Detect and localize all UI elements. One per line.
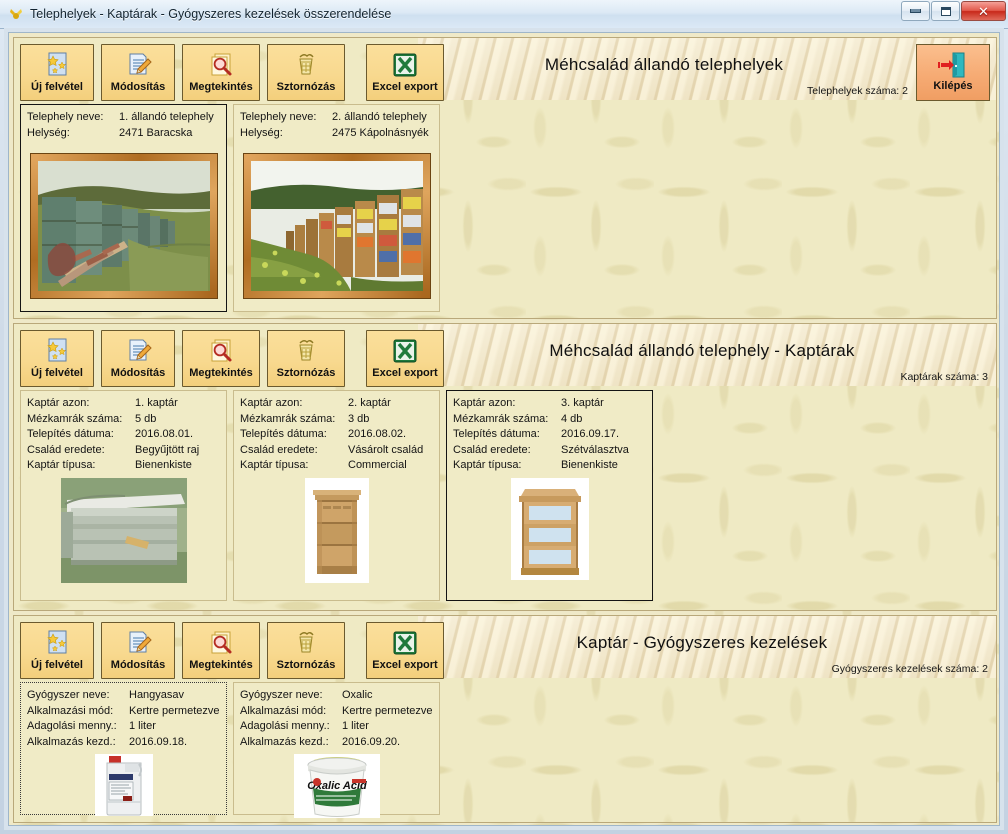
window-controls: ✕ [900, 1, 1006, 21]
field-key: Család eredete: [453, 443, 561, 459]
view-button-3[interactable]: Megtekintés [182, 622, 260, 679]
new-button-2[interactable]: Új felvétel [20, 330, 94, 387]
field-row: Alkalmazási mód:Kertre permetezve [240, 704, 433, 720]
apiary-colorful-hive-stacks-image [244, 154, 430, 298]
field-row: Mézkamrák száma:5 db [27, 412, 220, 428]
field-key: Alkalmazási mód: [27, 704, 129, 720]
field-row: Alkalmazás kezd.:2016.09.20. [240, 735, 433, 751]
card-fields: Gyógyszer neve:Oxalic Alkalmazási mód:Ke… [234, 683, 439, 752]
field-value: Bienenkiste [135, 458, 192, 474]
section1-title: Méhcsalád állandó telephelyek [418, 55, 910, 75]
field-key: Kaptár azon: [240, 396, 348, 412]
field-row: Helység: 2471 Baracska [27, 126, 220, 142]
section2-title: Méhcsalád állandó telephely - Kaptárak [418, 341, 986, 361]
field-key: Adagolási menny.: [240, 719, 342, 735]
field-value: 2475 Kápolnásnyék [332, 126, 429, 142]
field-value: 1. kaptár [135, 396, 178, 412]
field-key: Telepítés dátuma: [453, 427, 561, 443]
field-row: Kaptár azon:1. kaptár [27, 396, 220, 412]
apiary-green-hives-row-image [31, 154, 217, 298]
bee-icon [8, 6, 24, 22]
new-button-label: Új felvétel [31, 81, 83, 93]
wastebasket-icon [291, 49, 321, 81]
section3-cards: Gyógyszer neve:Hangyasav Alkalmazási mód… [20, 682, 440, 815]
field-row: Adagolási menny.:1 liter [27, 719, 220, 735]
wastebasket-icon [291, 627, 321, 659]
card-photo [234, 476, 439, 601]
list-item[interactable]: Gyógyszer neve:Oxalic Alkalmazási mód:Ke… [233, 682, 440, 815]
field-key: Mézkamrák száma: [453, 412, 561, 428]
field-row: Gyógyszer neve:Oxalic [240, 688, 433, 704]
new-button-label: Új felvétel [31, 367, 83, 379]
field-row: Kaptár típusa:Commercial [240, 458, 433, 474]
excel-icon [390, 335, 420, 367]
field-value: Oxalic [342, 688, 373, 704]
section3-header: Kaptár - Gyógyszeres kezelések Gyógyszer… [14, 616, 996, 678]
minimize-button[interactable] [901, 1, 930, 21]
card-fields: Kaptár azon:2. kaptár Mézkamrák száma:3 … [234, 391, 439, 476]
field-key: Mézkamrák száma: [240, 412, 348, 428]
field-value: Begyűjtött raj [135, 443, 199, 459]
exit-button[interactable]: Kilépés [916, 44, 990, 101]
client-area: Méhcsalád állandó telephelyek Telephelye… [4, 28, 1004, 830]
list-item[interactable]: Kaptár azon:1. kaptár Mézkamrák száma:5 … [20, 390, 227, 601]
section2-count: Kaptárak száma: 3 [900, 371, 988, 383]
field-row: Alkalmazás kezd.:2016.09.18. [27, 735, 220, 751]
section1-header: Méhcsalád állandó telephelyek Telephelye… [14, 38, 996, 100]
close-icon: ✕ [978, 5, 989, 18]
view-button-label: Megtekintés [189, 367, 253, 379]
field-key: Alkalmazás kezd.: [27, 735, 129, 751]
field-key: Telepítés dátuma: [27, 427, 135, 443]
field-value: 1. állandó telephely [119, 110, 214, 126]
field-value: 2. állandó telephely [332, 110, 427, 126]
field-key: Kaptár azon: [453, 396, 561, 412]
field-key: Mézkamrák száma: [27, 412, 135, 428]
field-value: Szétválasztva [561, 443, 629, 459]
field-value: 2. kaptár [348, 396, 391, 412]
view-button-label: Megtekintés [189, 81, 253, 93]
section2-toolbar: Új felvétel Módosítá [20, 330, 444, 387]
field-key: Család eredete: [27, 443, 135, 459]
field-row: Család eredete:Szétválasztva [453, 443, 646, 459]
modify-button-2[interactable]: Módosítás [101, 330, 175, 387]
field-row: Telepítés dátuma:2016.08.02. [240, 427, 433, 443]
window-title: Telephelyek - Kaptárak - Gyógyszeres kez… [30, 7, 391, 21]
field-value: 1 liter [129, 719, 156, 735]
field-row: Telepítés dátuma:2016.08.01. [27, 427, 220, 443]
new-record-icon [42, 335, 72, 367]
field-value: Commercial [348, 458, 407, 474]
field-value: 2471 Baracska [119, 126, 192, 142]
card-photo [21, 143, 226, 311]
field-key: Telephely neve: [240, 110, 332, 126]
field-value: 2016.09.18. [129, 735, 187, 751]
field-value: Hangyasav [129, 688, 184, 704]
field-value: Kertre permetezve [342, 704, 432, 720]
section1-toolbar: Új felvétel Módosítá [20, 44, 444, 101]
cancel-button-1[interactable]: Sztornózás [267, 44, 345, 101]
field-key: Helység: [27, 126, 119, 142]
field-value: 3 db [348, 412, 369, 428]
cancel-button-label: Sztornózás [277, 659, 336, 671]
field-value: 2016.08.01. [135, 427, 193, 443]
field-value: Bienenkiste [561, 458, 618, 474]
field-row: Telephely neve: 1. állandó telephely [27, 110, 220, 126]
magnifier-pages-icon [206, 335, 236, 367]
field-value: 1 liter [342, 719, 369, 735]
magnifier-pages-icon [206, 49, 236, 81]
field-key: Alkalmazás kezd.: [240, 735, 342, 751]
wastebasket-icon [291, 335, 321, 367]
cancel-button-2[interactable]: Sztornózás [267, 330, 345, 387]
field-row: Helység: 2475 Kápolnásnyék [240, 126, 433, 142]
field-key: Gyógyszer neve: [27, 688, 129, 704]
field-key: Helység: [240, 126, 332, 142]
modify-button-label: Módosítás [111, 659, 165, 671]
cancel-button-3[interactable]: Sztornózás [267, 622, 345, 679]
modify-button-1[interactable]: Módosítás [101, 44, 175, 101]
card-photo [234, 143, 439, 311]
field-key: Adagolási menny.: [27, 719, 129, 735]
edit-document-icon [123, 49, 153, 81]
field-value: Kertre permetezve [129, 704, 219, 720]
modify-button-3[interactable]: Módosítás [101, 622, 175, 679]
application-window: Telephelyek - Kaptárak - Gyógyszeres kez… [0, 0, 1008, 834]
field-row: Gyógyszer neve:Hangyasav [27, 688, 220, 704]
field-key: Gyógyszer neve: [240, 688, 342, 704]
field-value: 4 db [561, 412, 582, 428]
list-item[interactable]: Telephely neve: 1. állandó telephely Hel… [20, 104, 227, 312]
section2-header: Méhcsalád állandó telephely - Kaptárak K… [14, 324, 996, 386]
excel-icon [390, 627, 420, 659]
field-row: Alkalmazási mód:Kertre permetezve [27, 704, 220, 720]
list-item[interactable]: Telephely neve: 2. állandó telephely Hel… [233, 104, 440, 312]
field-row: Mézkamrák száma:4 db [453, 412, 646, 428]
minimize-icon [910, 9, 921, 13]
maximize-icon [941, 7, 951, 16]
field-row: Telepítés dátuma:2016.09.17. [453, 427, 646, 443]
excel-icon [390, 49, 420, 81]
new-button-1[interactable]: Új felvétel [20, 44, 94, 101]
panel-kaptarak: Méhcsalád állandó telephely - Kaptárak K… [13, 323, 997, 611]
maximize-button[interactable] [931, 1, 960, 21]
field-key: Kaptár azon: [27, 396, 135, 412]
section3-title: Kaptár - Gyógyszeres kezelések [418, 633, 986, 653]
field-value: 2016.08.02. [348, 427, 406, 443]
content-surface: Méhcsalád állandó telephelyek Telephelye… [8, 32, 1000, 826]
list-item[interactable]: Kaptár azon:3. kaptár Mézkamrák száma:4 … [446, 390, 653, 601]
field-key: Alkalmazási mód: [240, 704, 342, 720]
excel-export-button-1[interactable]: Excel export [366, 44, 444, 101]
cancel-button-label: Sztornózás [277, 367, 336, 379]
field-key: Telepítés dátuma: [240, 427, 348, 443]
exit-door-icon [937, 50, 969, 80]
card-photo: Oxalic Acid [234, 752, 439, 823]
new-button-3[interactable]: Új felvétel [20, 622, 94, 679]
field-row: Család eredete:Begyűjtött raj [27, 443, 220, 459]
exit-button-label: Kilépés [933, 80, 972, 92]
new-button-label: Új felvétel [31, 659, 83, 671]
hive-blue-white-boxes-image [511, 478, 589, 580]
field-key: Család eredete: [240, 443, 348, 459]
card-photo [447, 476, 652, 601]
card-fields: Kaptár azon:1. kaptár Mézkamrák száma:5 … [21, 391, 226, 476]
panel-gyogyszeres-kezelesek: Kaptár - Gyógyszeres kezelések Gyógyszer… [13, 615, 997, 823]
field-value: 5 db [135, 412, 156, 428]
list-item[interactable]: Gyógyszer neve:Hangyasav Alkalmazási mód… [20, 682, 227, 815]
card-fields: Kaptár azon:3. kaptár Mézkamrák száma:4 … [447, 391, 652, 476]
hive-tall-wooden-stack-image [305, 478, 369, 583]
card-fields: Telephely neve: 1. állandó telephely Hel… [21, 105, 226, 143]
window-titlebar[interactable]: Telephelyek - Kaptárak - Gyógyszeres kez… [0, 0, 1008, 29]
panel-telephelyek: Méhcsalád állandó telephelyek Telephelye… [13, 37, 997, 319]
card-fields: Telephely neve: 2. állandó telephely Hel… [234, 105, 439, 143]
field-row: Telephely neve: 2. állandó telephely [240, 110, 433, 126]
field-row: Mézkamrák száma:3 db [240, 412, 433, 428]
oxalic-acid-bucket-image: Oxalic Acid [294, 754, 380, 818]
list-item[interactable]: Kaptár azon:2. kaptár Mézkamrák száma:3 … [233, 390, 440, 601]
excel-export-button-label: Excel export [372, 81, 437, 93]
field-row: Kaptár azon:3. kaptár [453, 396, 646, 412]
field-key: Telephely neve: [27, 110, 119, 126]
excel-export-button-3[interactable]: Excel export [366, 622, 444, 679]
excel-export-button-2[interactable]: Excel export [366, 330, 444, 387]
magnifier-pages-icon [206, 627, 236, 659]
field-value: 2016.09.17. [561, 427, 619, 443]
field-row: Kaptár típusa:Bienenkiste [27, 458, 220, 474]
view-button-1[interactable]: Megtekintés [182, 44, 260, 101]
field-key: Kaptár típusa: [240, 458, 348, 474]
field-key: Kaptár típusa: [27, 458, 135, 474]
edit-document-icon [123, 335, 153, 367]
close-button[interactable]: ✕ [961, 1, 1006, 21]
cancel-button-label: Sztornózás [277, 81, 336, 93]
modify-button-label: Módosítás [111, 367, 165, 379]
view-button-2[interactable]: Megtekintés [182, 330, 260, 387]
field-value: 2016.09.20. [342, 735, 400, 751]
section3-count: Gyógyszeres kezelések száma: 2 [832, 663, 988, 675]
card-photo [21, 752, 226, 822]
section1-count: Telephelyek száma: 2 [807, 85, 908, 97]
card-photo [21, 476, 226, 601]
edit-document-icon [123, 627, 153, 659]
card-fields: Gyógyszer neve:Hangyasav Alkalmazási mód… [21, 683, 226, 752]
view-button-label: Megtekintés [189, 659, 253, 671]
field-key: Kaptár típusa: [453, 458, 561, 474]
field-value: 3. kaptár [561, 396, 604, 412]
excel-export-button-label: Excel export [372, 367, 437, 379]
section1-cards: Telephely neve: 1. állandó telephely Hel… [20, 104, 440, 312]
field-value: Vásárolt család [348, 443, 423, 459]
section3-toolbar: Új felvétel Módosítá [20, 622, 444, 679]
excel-export-button-label: Excel export [372, 659, 437, 671]
field-row: Adagolási menny.:1 liter [240, 719, 433, 735]
new-record-icon [42, 49, 72, 81]
hive-grey-wooden-box-image [61, 478, 187, 583]
field-row: Kaptár azon:2. kaptár [240, 396, 433, 412]
field-row: Család eredete:Vásárolt család [240, 443, 433, 459]
formic-acid-canister-image [95, 754, 153, 816]
field-row: Kaptár típusa:Bienenkiste [453, 458, 646, 474]
modify-button-label: Módosítás [111, 81, 165, 93]
new-record-icon [42, 627, 72, 659]
section2-cards: Kaptár azon:1. kaptár Mézkamrák száma:5 … [20, 390, 653, 601]
